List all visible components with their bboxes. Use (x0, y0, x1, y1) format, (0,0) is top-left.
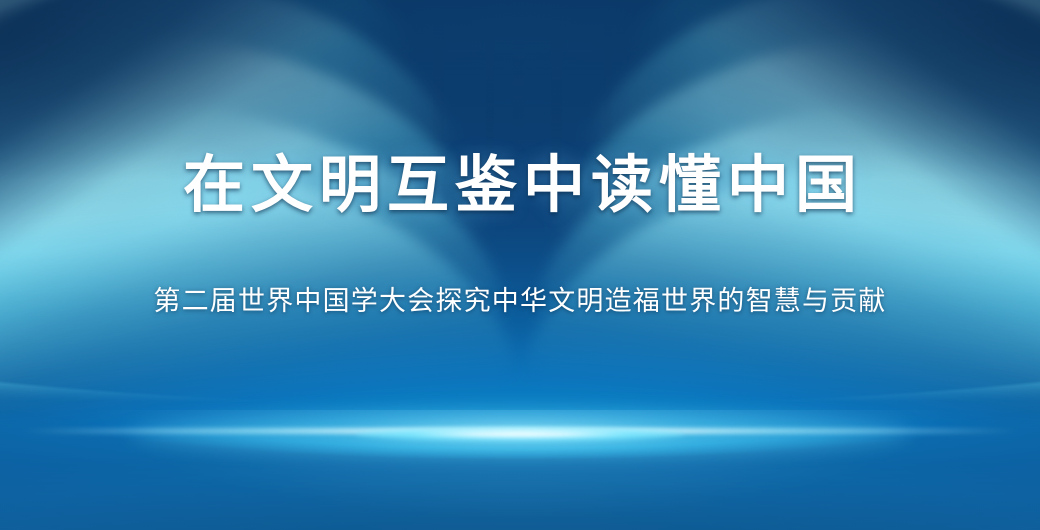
banner-content: 在文明互鉴中读懂中国 第二届世界中国学大会探究中华文明造福世界的智慧与贡献 (0, 0, 1040, 530)
banner-subtitle: 第二届世界中国学大会探究中华文明造福世界的智慧与贡献 (153, 288, 886, 315)
banner-title: 在文明互鉴中读懂中国 (177, 155, 863, 217)
hero-banner: 在文明互鉴中读懂中国 第二届世界中国学大会探究中华文明造福世界的智慧与贡献 (0, 0, 1040, 530)
